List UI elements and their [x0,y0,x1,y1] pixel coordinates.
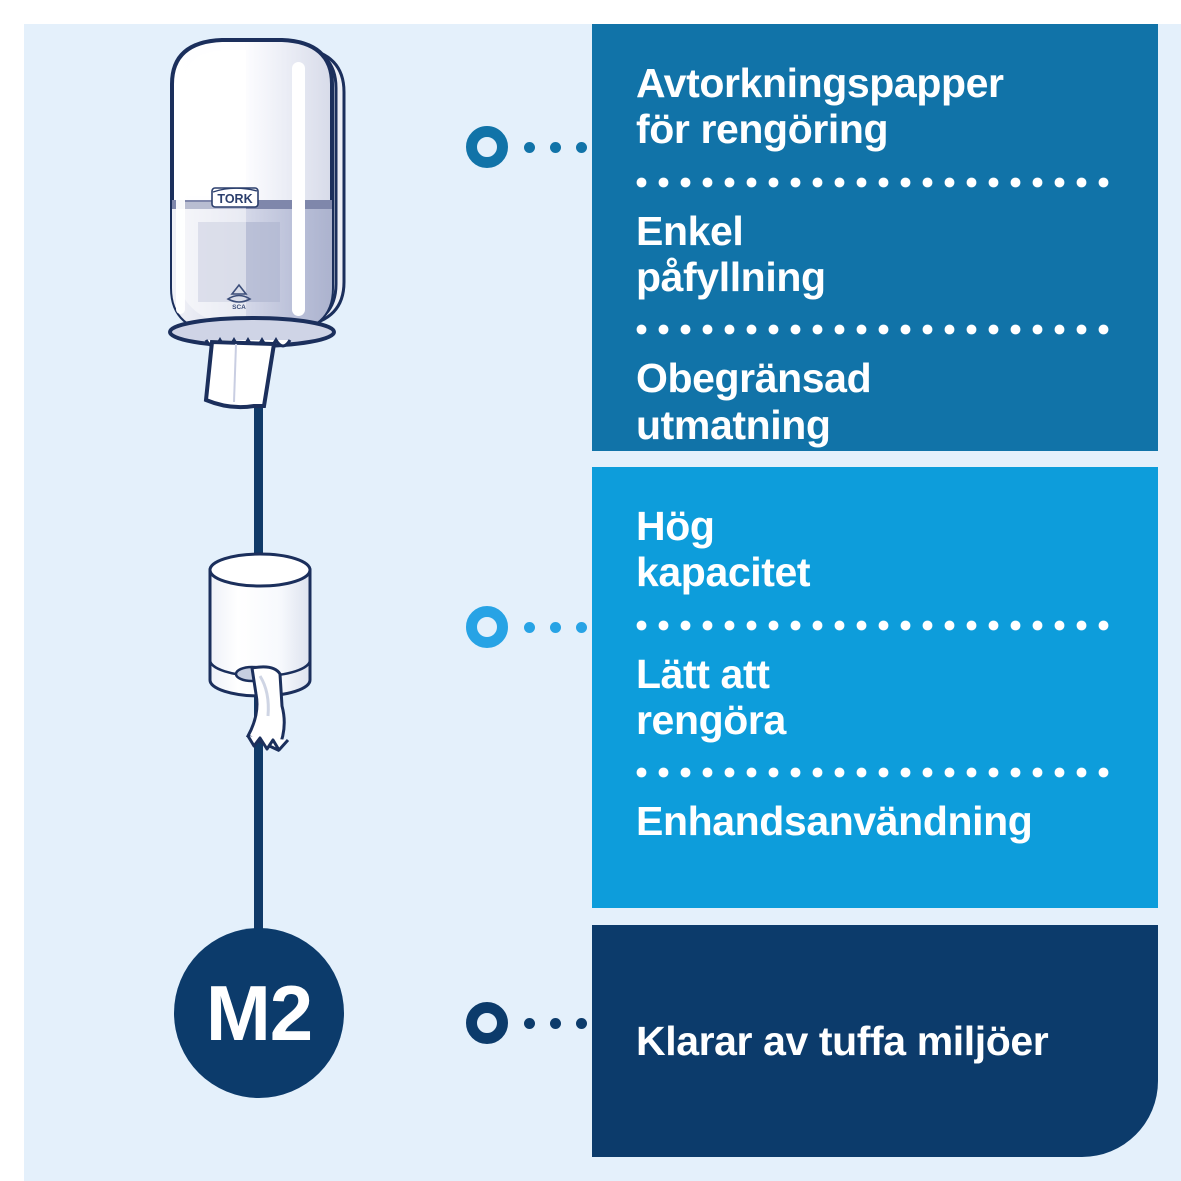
feature-item: Enkel påfyllning [636,202,1114,311]
feature-item: Hög kapacitet [636,497,1114,606]
svg-text:SCA: SCA [232,304,246,311]
feature-item: Lätt att rengöra [636,645,1114,754]
system-badge-label: M2 [206,974,312,1052]
feature-label: Obegränsad utmatning [636,355,1114,448]
feature-item: Klarar av tuffa miljöer [636,1018,1048,1064]
feature-label: Avtorkningspapper för rengöring [636,60,1114,153]
dotted-divider [636,177,1114,188]
gloss-highlight-right [292,62,305,316]
circle-ring-icon [466,606,508,648]
tork-logo: TORK [212,188,258,207]
feature-item: Obegränsad utmatning [636,349,1114,458]
dotted-divider [636,767,1114,778]
illustration-column: TORK SCA [0,0,592,1181]
infographic-root: TORK SCA [0,0,1181,1181]
feature-label: Klarar av tuffa miljöer [636,1018,1048,1064]
feature-item: Enhandsanvändning [636,792,1114,854]
feature-panel-1: Avtorkningspapper för rengöring Enkel på… [592,24,1158,451]
circle-ring-icon [466,126,508,168]
feature-label: Hög kapacitet [636,503,1114,596]
feature-label: Enkel påfyllning [636,208,1114,301]
feature-label: Enhandsanvändning [636,798,1114,844]
system-badge-m2: M2 [174,928,344,1098]
feature-panel-2: Hög kapacitet Lätt att rengöra Enhandsan… [592,467,1158,908]
dotted-divider [636,620,1114,631]
centerfeed-roll-illustration [190,548,340,778]
circle-ring-icon [466,1002,508,1044]
dotted-divider [636,324,1114,335]
gloss-highlight-left [176,66,185,314]
feature-item: Avtorkningspapper för rengöring [636,54,1114,163]
tork-dispenser-illustration: TORK SCA [150,26,410,426]
dispenser-nozzle-and-paper [170,318,334,407]
feature-panel-3: Klarar av tuffa miljöer [592,925,1158,1157]
svg-text:TORK: TORK [217,192,252,206]
feature-label: Lätt att rengöra [636,651,1114,744]
